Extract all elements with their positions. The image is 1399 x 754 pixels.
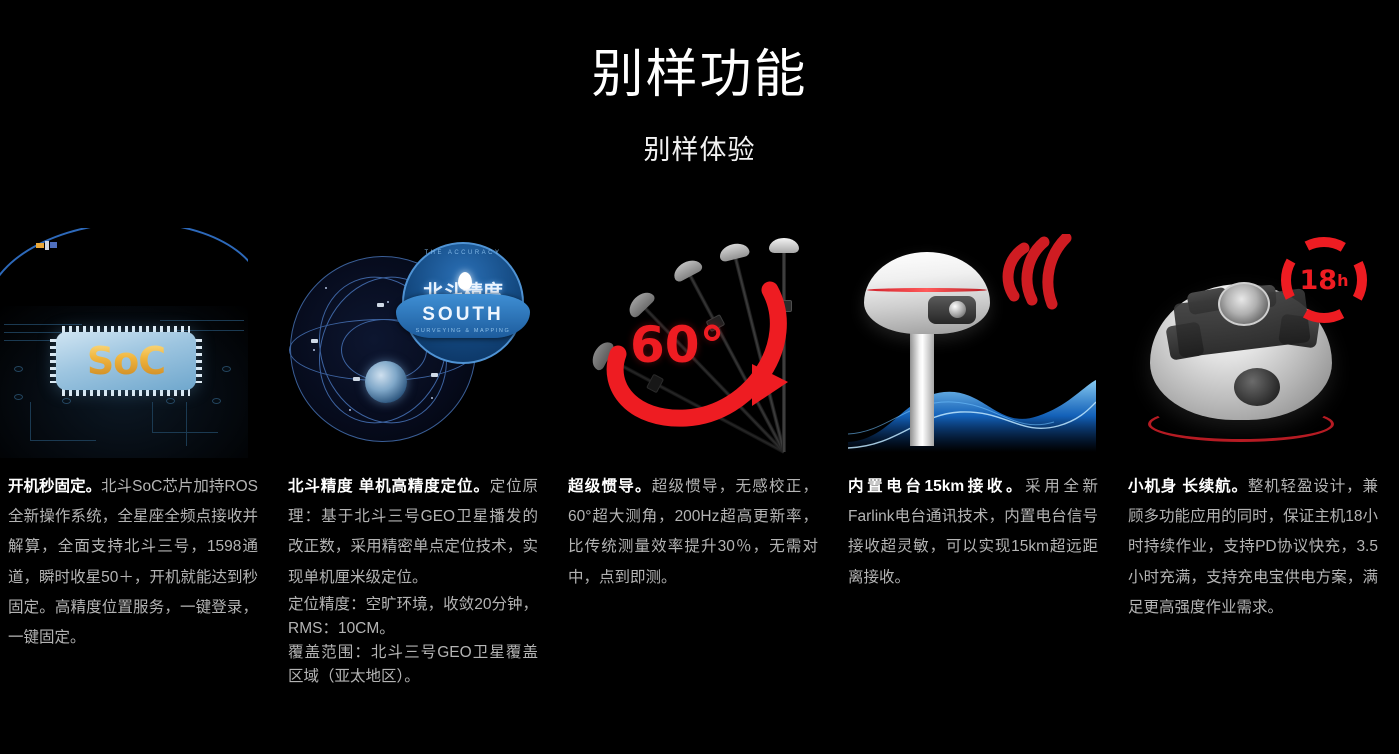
- feature-caption-builtin-radio: 内置电台15km接收。采用全新Farlink电台通讯技术，内置电台信号接收超灵敏…: [848, 458, 1098, 593]
- chip-label: SoC: [56, 332, 196, 390]
- badge-brand-text: SOUTH: [396, 304, 530, 326]
- feature-caption-soc-instant-fix: 开机秒固定。北斗SoC芯片加持ROS全新操作系统，全星座全频点接收并解算，全面支…: [8, 458, 258, 653]
- feature-lead-builtin-radio: 内置电台15km接收。: [848, 478, 1025, 495]
- badge-subtitle-text: SURVEYING & MAPPING: [396, 328, 530, 334]
- radio-signal-waves-icon: [1002, 234, 1080, 312]
- feature-lead-compact-long-battery: 小机身 长续航。: [1128, 478, 1248, 495]
- satellite-icon: [36, 241, 58, 250]
- receiver-red-ring: [1148, 406, 1334, 442]
- feature-caption-beidou-accuracy: 北斗精度 单机高精度定位。定位原理：基于北斗三号GEO卫星播发的改正数，采用精密…: [288, 458, 538, 689]
- tilt-angle-label: 60°: [630, 316, 725, 374]
- battery-hours-number: 18: [1300, 265, 1338, 296]
- receiver-camera-lens-icon: [949, 301, 966, 318]
- feature-extra-accuracy: 定位精度：空旷环境，收敛20分钟，RMS：10CM。: [288, 593, 538, 641]
- feature-body-compact-long-battery: 整机轻盈设计，兼顾多功能应用的同时，保证主机18小时持续作业，支持PD协议快充，…: [1128, 478, 1378, 616]
- battery-18h-badge: 18h: [1278, 234, 1370, 326]
- page-title: 别样功能: [0, 46, 1399, 106]
- receiver-pole: [910, 328, 934, 446]
- page-header: 别样功能 别样体验: [0, 0, 1399, 167]
- gnss-receiver-body: [864, 252, 990, 334]
- feature-extra-coverage: 覆盖范围：北斗三号GEO卫星覆盖区域（亚太地区）。: [288, 641, 538, 689]
- feature-lead-beidou-accuracy: 北斗精度 单机高精度定位。: [288, 478, 490, 495]
- tilt-60-degree-image: 60°: [568, 228, 816, 458]
- chip-pins-right-icon: [195, 339, 202, 383]
- feature-showcase-page: 别样功能 别样体验: [0, 0, 1399, 754]
- feature-caption-compact-long-battery: 小机身 长续航。整机轻盈设计，兼顾多功能应用的同时，保证主机18小时持续作业，支…: [1128, 458, 1378, 623]
- chip-pins-bottom-icon: [62, 389, 190, 396]
- feature-columns: SoC 开机秒固定。北斗SoC芯片加持ROS全新操作系统，全星座全频点接收并解算…: [0, 228, 1399, 689]
- feature-column-compact-long-battery: 18h 小机身 长续航。整机轻盈设计，兼顾多功能应用的同时，保证主机18小时持续…: [1120, 228, 1399, 689]
- battery-18h-image: 18h: [1128, 228, 1376, 458]
- map-pin-icon: [458, 272, 472, 290]
- feature-lead-super-imu: 超级惯导。: [568, 478, 652, 495]
- beidou-constellation-badge-image: THE ACCURACY 北斗精度 SOUTH SURVEYING & MAPP…: [288, 228, 536, 458]
- feature-column-beidou-accuracy: THE ACCURACY 北斗精度 SOUTH SURVEYING & MAPP…: [280, 228, 560, 689]
- south-brand-badge: THE ACCURACY 北斗精度 SOUTH SURVEYING & MAPP…: [396, 242, 530, 370]
- receiver-red-stripe: [867, 288, 987, 292]
- blue-wave-graphic: [848, 356, 1096, 452]
- soc-chip-graphic: SoC: [56, 332, 196, 390]
- gnss-receiver-radio-image: [848, 228, 1096, 458]
- battery-hours-unit: h: [1337, 271, 1348, 290]
- battery-hours-label: 18h: [1278, 234, 1370, 326]
- tripod-thread-icon: [1218, 282, 1270, 326]
- feature-column-soc-instant-fix: SoC 开机秒固定。北斗SoC芯片加持ROS全新操作系统，全星座全频点接收并解算…: [0, 228, 280, 689]
- page-subtitle: 别样体验: [0, 128, 1399, 167]
- feature-lead-soc-instant-fix: 开机秒固定。: [8, 478, 101, 495]
- feature-column-super-imu: 60° 超级惯导。超级惯导，无感校正，60°超大测角，200Hz超高更新率，比传…: [560, 228, 840, 689]
- badge-top-text: THE ACCURACY: [396, 250, 530, 256]
- soc-chip-satellite-image: SoC: [0, 228, 248, 458]
- feature-body-soc-instant-fix: 北斗SoC芯片加持ROS全新操作系统，全星座全频点接收并解算，全面支持北斗三号，…: [8, 478, 258, 646]
- feature-column-builtin-radio: 内置电台15km接收。采用全新Farlink电台通讯技术，内置电台信号接收超灵敏…: [840, 228, 1120, 689]
- feature-caption-super-imu: 超级惯导。超级惯导，无感校正，60°超大测角，200Hz超高更新率，比传统测量效…: [568, 458, 818, 593]
- base-port-icon: [1234, 368, 1280, 406]
